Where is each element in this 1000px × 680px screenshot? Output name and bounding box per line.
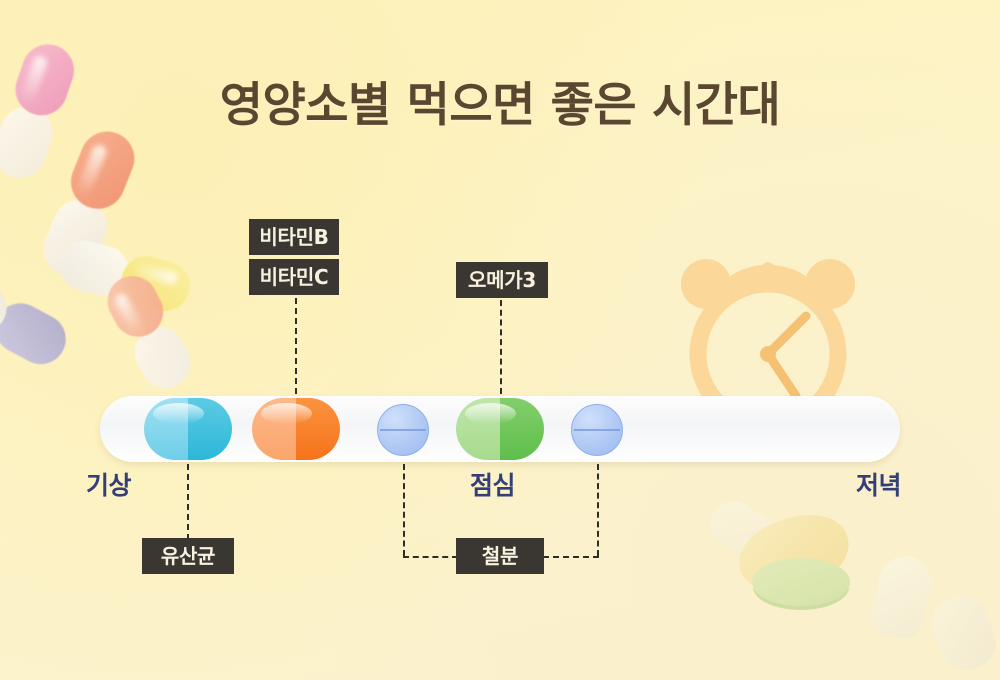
pill-iron-2[interactable] xyxy=(571,404,623,456)
decorative-tablet-white-2 xyxy=(924,588,1000,678)
nutrient-label-omega3[interactable]: 오메가3 xyxy=(456,262,548,298)
nutrient-label-probiotic[interactable]: 유산균 xyxy=(142,538,234,574)
pill-half-light xyxy=(252,398,296,460)
time-label-lunch: 점심 xyxy=(470,466,515,502)
connector-iron-left xyxy=(403,464,405,556)
connector-probiotic xyxy=(187,464,189,540)
pill-half-light xyxy=(456,398,500,460)
pill-half-dark xyxy=(296,398,340,460)
pill-half-light xyxy=(144,398,188,460)
decorative-pills-bottom-right xyxy=(700,510,1000,680)
connector-iron-horizontal-right xyxy=(543,556,599,558)
infographic-canvas: 영양소별 먹으면 좋은 시간대 비타민B 비타민C 오메가3 기상 점심 저녁 … xyxy=(0,0,1000,680)
nutrient-label-vitamin-c[interactable]: 비타민C xyxy=(249,259,339,295)
capsule-body-bottom xyxy=(0,295,75,373)
decorative-tablet-green xyxy=(752,558,850,606)
nutrient-label-iron[interactable]: 철분 xyxy=(456,538,544,574)
time-label-evening: 저녁 xyxy=(856,466,901,502)
page-title: 영양소별 먹으면 좋은 시간대 xyxy=(0,66,1000,135)
pill-half-dark xyxy=(500,398,544,460)
connector-vitamin xyxy=(295,298,297,394)
pill-half-dark xyxy=(188,398,232,460)
connector-omega3 xyxy=(500,300,502,394)
time-label-morning: 기상 xyxy=(86,466,131,502)
pill-probiotic[interactable] xyxy=(144,398,232,460)
pill-omega3[interactable] xyxy=(456,398,544,460)
pill-vitamin[interactable] xyxy=(252,398,340,460)
connector-iron-horizontal-left xyxy=(403,556,458,558)
decorative-tablet-white-1 xyxy=(867,551,936,643)
nutrient-label-vitamin-b[interactable]: 비타민B xyxy=(249,219,339,255)
pill-iron-1[interactable] xyxy=(377,404,429,456)
connector-iron-right xyxy=(597,464,599,556)
